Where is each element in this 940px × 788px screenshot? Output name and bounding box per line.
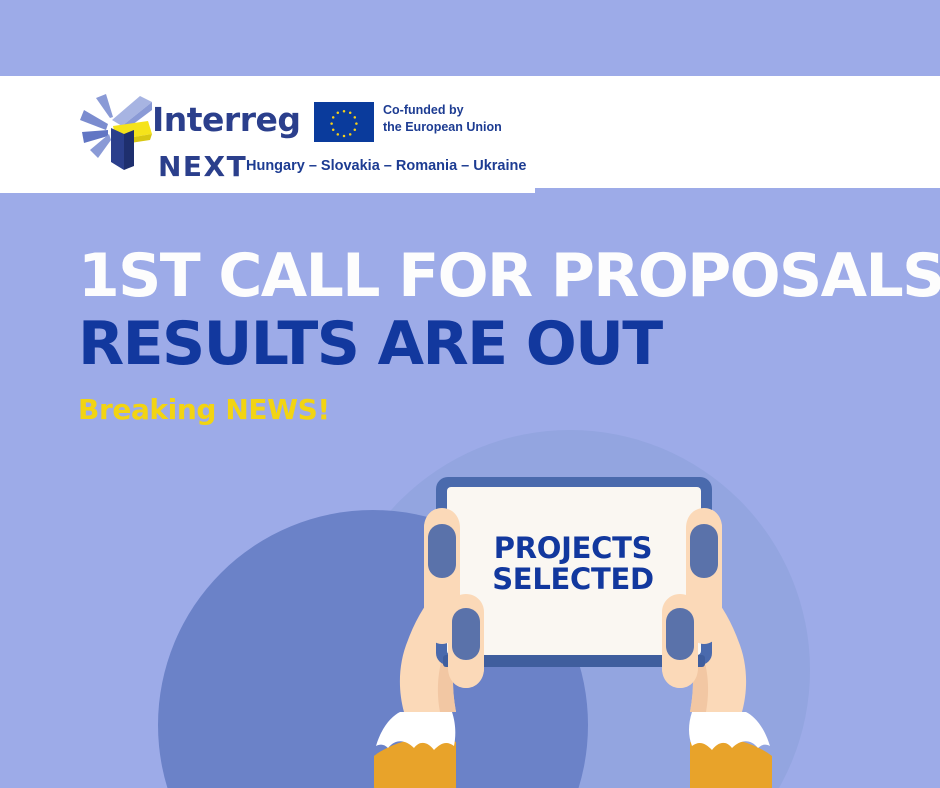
- poster-canvas: Interreg Co-funded bythe European Union …: [0, 0, 940, 788]
- hands-holding-tablet-illustration: [0, 0, 940, 788]
